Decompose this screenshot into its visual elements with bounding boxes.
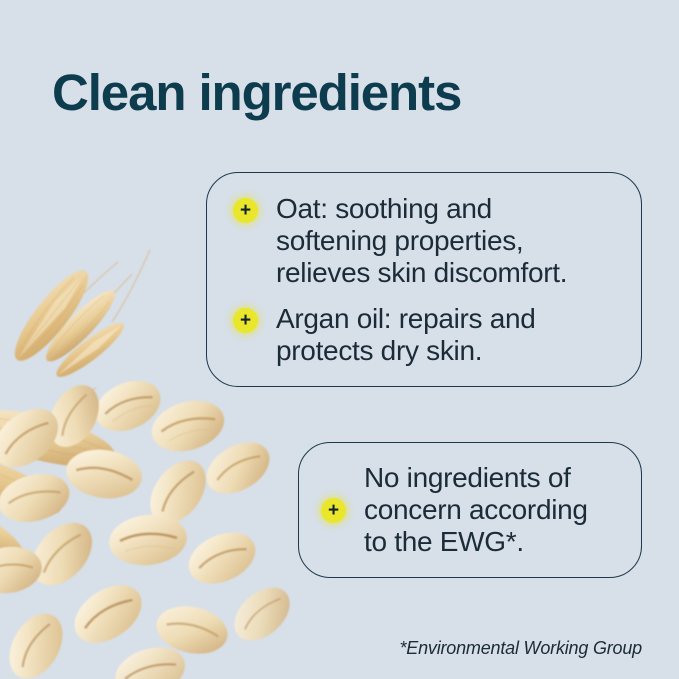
list-item-line: Argan oil: repairs and	[276, 303, 536, 335]
ewg-card-body: + No ingredients of concern according to…	[299, 443, 641, 577]
list-item-label: Oat: soothing and softening properties, …	[276, 193, 567, 289]
footnote: *Environmental Working Group	[0, 638, 642, 659]
list-item-line: relieves skin discomfort.	[276, 257, 567, 289]
list-item-line: softening properties,	[276, 225, 567, 257]
list-item: + Argan oil: repairs and protects dry sk…	[207, 303, 641, 367]
list-item: + Oat: soothing and softening properties…	[207, 193, 641, 289]
plus-icon: +	[321, 498, 346, 523]
list-item-label: No ingredients of concern according to t…	[364, 462, 588, 558]
list-item-line: Oat: soothing and	[276, 193, 567, 225]
list-item-label: Argan oil: repairs and protects dry skin…	[276, 303, 536, 367]
list-item: + No ingredients of concern according to…	[299, 462, 641, 558]
ewg-card: + No ingredients of concern according to…	[298, 442, 642, 578]
clean-ingredients-infographic: Clean ingredients + Oat: soothing and so…	[0, 0, 679, 679]
list-item-line: protects dry skin.	[276, 335, 536, 367]
list-item-line: No ingredients of	[364, 462, 588, 494]
ingredients-card: + Oat: soothing and softening properties…	[206, 172, 642, 387]
ingredients-card-body: + Oat: soothing and softening properties…	[207, 173, 641, 386]
plus-icon: +	[233, 198, 258, 223]
list-item-line: concern according	[364, 494, 588, 526]
list-item-line: to the EWG*.	[364, 526, 588, 558]
plus-icon: +	[233, 308, 258, 333]
page-title: Clean ingredients	[52, 65, 461, 121]
